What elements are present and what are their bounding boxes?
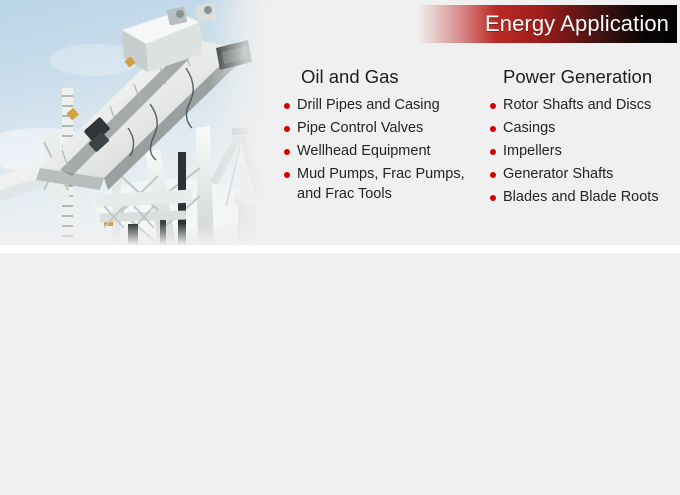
list-item: Drill Pipes and Casing: [283, 96, 465, 116]
list-item: Rotor Shafts and Discs: [489, 96, 659, 116]
oil-and-gas-heading: Oil and Gas: [301, 66, 465, 88]
energy-application-section: Energy Application Oil and Gas Drill Pip…: [0, 0, 680, 245]
power-generation-list: Rotor Shafts and Discs Casings Impellers…: [489, 96, 659, 208]
list-item: Generator Shafts: [489, 165, 659, 185]
oil-and-gas-list: Drill Pipes and Casing Pipe Control Valv…: [283, 96, 465, 205]
slide-canvas: Energy Application Oil and Gas Drill Pip…: [0, 0, 680, 495]
power-generation-column: Power Generation Rotor Shafts and Discs …: [489, 66, 659, 211]
list-item-continuation: and Frac Tools: [283, 185, 465, 205]
crane-photo-right-fade: [210, 0, 272, 245]
section-divider: [0, 245, 680, 253]
list-item: Impellers: [489, 142, 659, 162]
list-item: Wellhead Equipment: [283, 142, 465, 162]
oil-and-gas-column: Oil and Gas Drill Pipes and Casing Pipe …: [283, 66, 465, 208]
energy-banner-label: Energy Application: [485, 11, 669, 37]
list-item: Casings: [489, 119, 659, 139]
consumer-electronics-section: Consumer Electronics Consumer Electronic…: [0, 253, 680, 495]
list-item: Pipe Control Valves: [283, 119, 465, 139]
port-container-crane-photo: [0, 0, 272, 245]
crane-photo-bottom-fade: [0, 223, 272, 245]
energy-application-banner: Energy Application: [418, 5, 677, 43]
power-generation-heading: Power Generation: [503, 66, 659, 88]
list-item: Mud Pumps, Frac Pumps,: [283, 165, 465, 185]
list-item: Blades and Blade Roots: [489, 188, 659, 208]
